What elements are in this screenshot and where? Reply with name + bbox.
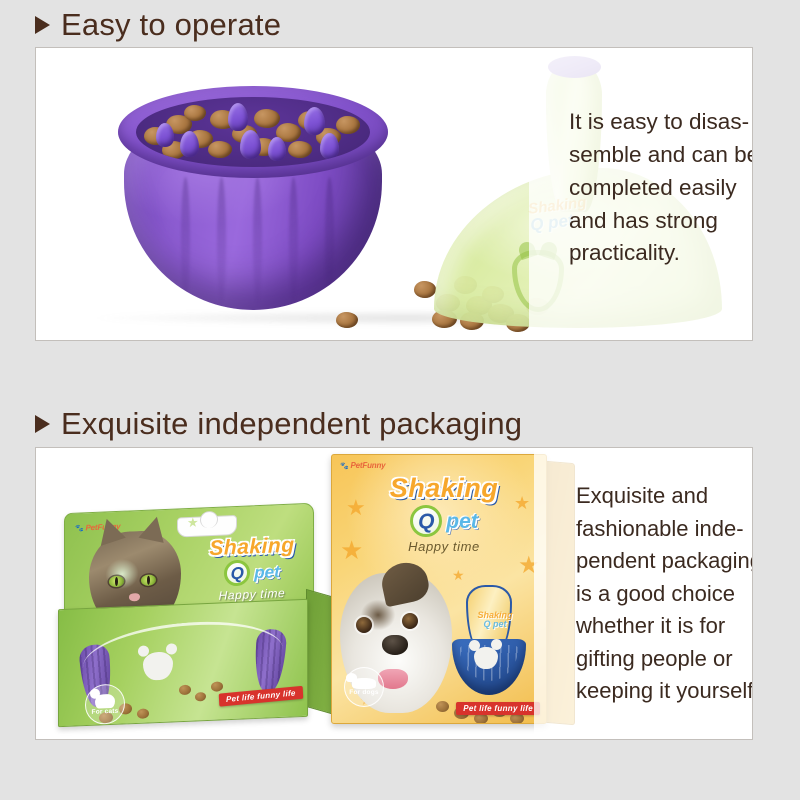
ribbon-tagline: Pet life funny life (219, 686, 303, 707)
dog-silhouette-icon (352, 678, 376, 689)
product-detail-page: Easy to operate (0, 0, 800, 800)
logo-pet-text: pet (254, 563, 280, 581)
badge-caption: For cats (92, 707, 119, 715)
ribbon-tagline: Pet life funny life (456, 702, 540, 715)
inset-logo-line2: Q pet (470, 620, 520, 629)
cat-box-front-panel: For cats Pet life funny life (58, 599, 308, 727)
shaking-q-pet-logo: Shaking Q pet Happy time (368, 475, 520, 553)
body-copy-easy-to-operate: It is easy to disas- semble and can be c… (569, 106, 753, 270)
product-photo-retail-boxes: PetFunny Shaking Q pet (36, 448, 752, 739)
purple-bowl (118, 86, 388, 316)
for-dogs-badge: For dogs (344, 667, 384, 707)
badge-caption: For dogs (349, 689, 378, 696)
section-heading-label: Easy to operate (61, 9, 281, 40)
illustrated-product: Shaking Q pet (452, 585, 526, 697)
logo-q-badge: Q (224, 559, 250, 586)
play-triangle-icon (35, 415, 50, 433)
dog-box-front-panel: PetFunny ★ ★ ★ ★ ★ ★ Shaking Q pet Happy… (331, 454, 547, 724)
section-heading-label: Exquisite independent packaging (61, 408, 522, 439)
paw-cutout-icon (474, 647, 498, 669)
cat-retail-box: PetFunny Shaking Q pet (58, 508, 343, 723)
for-cats-badge: For cats (85, 683, 125, 725)
bowl-interior-with-food (136, 97, 370, 167)
inset-logo: Shaking Q pet (470, 611, 520, 629)
hang-hole (177, 515, 237, 538)
shaking-q-pet-logo: Shaking Q pet Happy time (199, 534, 305, 602)
body-copy-text: Exquisite and fashionable inde- pendent … (576, 483, 753, 703)
body-copy-packaging: Exquisite and fashionable inde- pendent … (576, 480, 753, 708)
logo-shaking-text: Shaking (368, 475, 520, 502)
brand-logo: PetFunny (340, 461, 385, 470)
logo-shaking-text: Shaking (199, 534, 305, 559)
logo-pet-text: pet (446, 511, 478, 532)
photo-panel-easy-to-operate: Shaking Q pet It is easy to disas- sembl… (35, 47, 753, 341)
body-copy-text: It is easy to disas- semble and can be c… (569, 109, 753, 265)
dog-ear (378, 559, 431, 608)
logo-q-badge: Q (410, 505, 442, 537)
photo-panel-packaging: PetFunny Shaking Q pet (35, 447, 753, 740)
section-heading-exquisite-independent-packaging: Exquisite independent packaging (35, 408, 522, 439)
product-photo-bowl-and-dome: Shaking Q pet It is easy to disas- sembl… (36, 48, 752, 340)
cat-silhouette-icon (95, 693, 115, 708)
play-triangle-icon (35, 16, 50, 34)
logo-tagline: Happy time (368, 540, 520, 553)
section-heading-easy-to-operate: Easy to operate (35, 9, 281, 40)
